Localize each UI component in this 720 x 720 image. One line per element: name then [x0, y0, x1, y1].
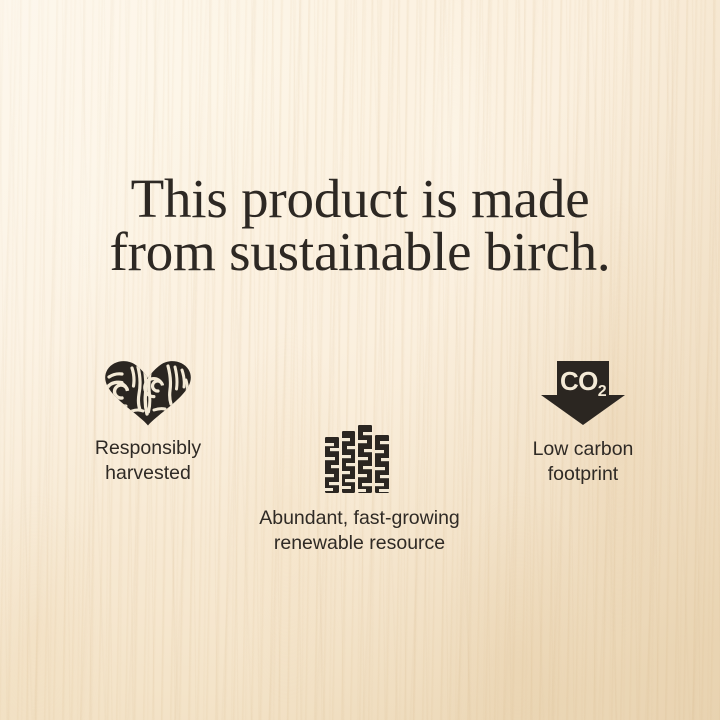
page-title: This product is made from sustainable bi…: [0, 172, 720, 278]
feature-caption: Abundant, fast-growing renewable resourc…: [238, 506, 481, 555]
icon-container: [238, 424, 481, 494]
product-claim-card: This product is made from sustainable bi…: [0, 0, 720, 720]
co2-label-subscript: 2: [598, 383, 607, 400]
caption-line-1: Abundant, fast-growing: [238, 506, 481, 531]
wood-grain-heart-icon: [102, 358, 194, 426]
headline-line-1: This product is made: [0, 172, 720, 225]
feature-low-carbon-footprint: CO2 Low carbon footprint: [463, 360, 703, 486]
feature-responsibly-harvested: Responsibly harvested: [28, 358, 268, 485]
headline-line-2: from sustainable birch.: [0, 225, 720, 278]
caption-line-2: footprint: [463, 462, 703, 487]
birch-trunks-icon: [324, 424, 396, 494]
caption-line-2: harvested: [28, 461, 268, 486]
caption-line-2: renewable resource: [238, 531, 481, 556]
icon-container: CO2: [463, 360, 703, 426]
caption-line-1: Responsibly: [28, 436, 268, 461]
icon-container: [28, 358, 268, 426]
co2-label-main: CO: [560, 366, 598, 396]
caption-line-1: Low carbon: [463, 437, 703, 462]
feature-renewable-resource: Abundant, fast-growing renewable resourc…: [238, 424, 481, 555]
co2-down-arrow-icon: CO2: [540, 360, 626, 426]
feature-caption: Responsibly harvested: [28, 436, 268, 485]
feature-caption: Low carbon footprint: [463, 437, 703, 486]
